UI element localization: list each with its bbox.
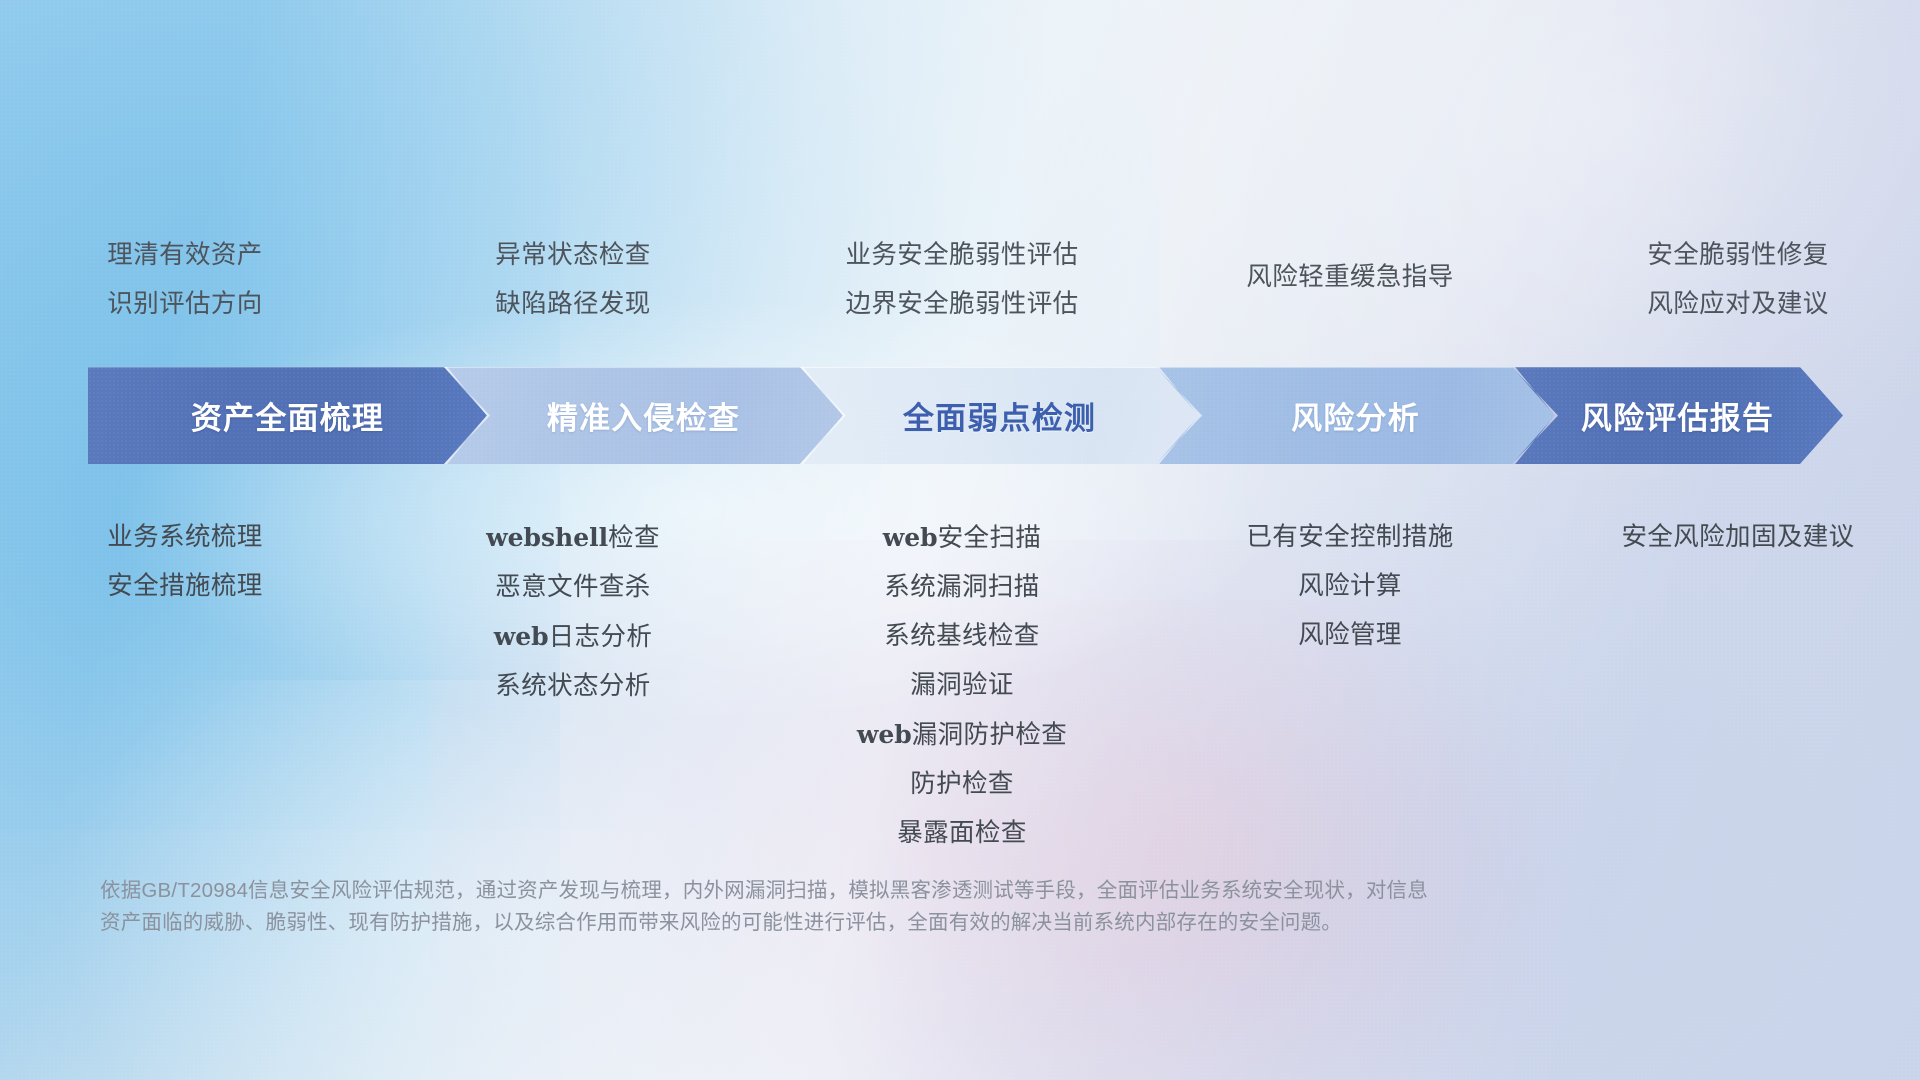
list-item: 系统状态分析 — [395, 662, 751, 711]
footer-description: 依据GB/T20984信息安全风险评估规范，通过资产发现与梳理，内外网漏洞扫描，… — [100, 875, 1740, 938]
top-label: 异常状态检查 — [399, 231, 747, 280]
list-item: 恶意文件查杀 — [395, 563, 751, 612]
stage-title: 风险分析 — [1291, 393, 1420, 438]
footer-line: 资产面临的威胁、脆弱性、现有防护措施，以及综合作用而带来风险的可能性进行评估，全… — [100, 907, 1740, 939]
list-item: 暴露面检查 — [784, 809, 1140, 858]
top-labels-weakness-detection: 业务安全脆弱性评估 边界安全脆弱性评估 — [770, 231, 1154, 329]
list-item: 防护检查 — [784, 760, 1140, 809]
bottom-items-risk-report: 安全风险加固及建议 — [1546, 513, 1920, 858]
top-labels-intrusion-check: 异常状态检查 缺陷路径发现 — [381, 231, 765, 329]
bottom-items-intrusion-check: webshell检查 恶意文件查杀 web日志分析 系统状态分析 — [381, 513, 765, 858]
top-label: 风险应对及建议 — [1564, 280, 1912, 329]
list-item: 业务系统梳理 — [7, 513, 363, 562]
list-item: 安全措施梳理 — [7, 562, 363, 611]
top-label: 安全脆弱性修复 — [1564, 231, 1912, 280]
stage-chevron-asset-inventory[interactable]: 资产全面梳理 — [88, 367, 487, 464]
bottom-items-asset-inventory: 业务系统梳理 安全措施梳理 — [0, 513, 377, 858]
stage-chevron-band: 资产全面梳理 精准入侵检查 全面弱点检测 风险分析 风险评估报告 — [88, 367, 1843, 464]
list-item: 安全风险加固及建议 — [1560, 513, 1916, 562]
list-item: 已有安全控制措施 — [1172, 513, 1528, 562]
list-item: webshell检查 — [395, 513, 751, 563]
list-item: web安全扫描 — [784, 513, 1140, 563]
bottom-items-risk-analysis: 已有安全控制措施 风险计算 风险管理 — [1158, 513, 1542, 858]
stage-chevron-weakness-detection[interactable]: 全面弱点检测 — [800, 367, 1199, 464]
stage-chevron-risk-analysis[interactable]: 风险分析 — [1156, 367, 1555, 464]
top-labels-asset-inventory: 理清有效资产 识别评估方向 — [0, 231, 377, 329]
list-item: 系统漏洞扫描 — [784, 563, 1140, 612]
top-label: 理清有效资产 — [11, 231, 359, 280]
bottom-items-weakness-detection: web安全扫描 系统漏洞扫描 系统基线检查 漏洞验证 web漏洞防护检查 防护检… — [770, 513, 1154, 858]
list-item: web日志分析 — [395, 612, 751, 662]
stage-top-labels-row: 理清有效资产 识别评估方向 异常状态检查 缺陷路径发现 业务安全脆弱性评估 边界… — [0, 231, 1920, 329]
stage-chevron-risk-report[interactable]: 风险评估报告 — [1512, 367, 1843, 464]
stage-bottom-items-row: 业务系统梳理 安全措施梳理 webshell检查 恶意文件查杀 web日志分析 … — [0, 513, 1920, 858]
top-label: 业务安全脆弱性评估 — [788, 231, 1136, 280]
stage-title: 资产全面梳理 — [191, 393, 384, 438]
footer-line: 依据GB/T20984信息安全风险评估规范，通过资产发现与梳理，内外网漏洞扫描，… — [100, 875, 1740, 907]
process-diagram: 理清有效资产 识别评估方向 异常状态检查 缺陷路径发现 业务安全脆弱性评估 边界… — [0, 0, 1920, 1080]
list-item: 风险计算 — [1172, 562, 1528, 611]
list-item: web漏洞防护检查 — [784, 710, 1140, 760]
list-item: 漏洞验证 — [784, 661, 1140, 710]
top-label: 缺陷路径发现 — [399, 280, 747, 329]
stage-title: 全面弱点检测 — [903, 393, 1096, 438]
top-label: 识别评估方向 — [11, 280, 359, 329]
stage-title: 风险评估报告 — [1581, 393, 1774, 438]
list-item: 风险管理 — [1172, 611, 1528, 660]
top-label: 风险轻重缓急指导 — [1176, 253, 1524, 302]
stage-chevron-intrusion-check[interactable]: 精准入侵检查 — [444, 367, 843, 464]
list-item: 系统基线检查 — [784, 612, 1140, 661]
top-label: 边界安全脆弱性评估 — [788, 280, 1136, 329]
stage-title: 精准入侵检查 — [547, 393, 740, 438]
top-labels-risk-report: 安全脆弱性修复 风险应对及建议 — [1546, 231, 1920, 329]
top-labels-risk-analysis: 风险轻重缓急指导 — [1158, 253, 1542, 351]
